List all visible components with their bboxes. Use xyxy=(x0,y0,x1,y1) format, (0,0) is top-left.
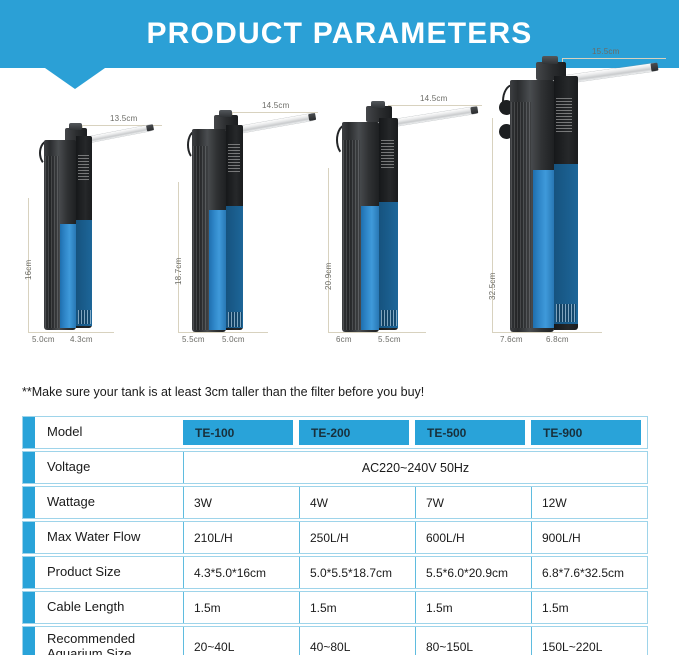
row-label-product-size: Product Size xyxy=(35,557,183,588)
row-accent-bar xyxy=(23,627,35,655)
body-label-plate-1 xyxy=(78,154,89,180)
dimension-width-2: 5.0cm xyxy=(222,335,245,344)
dimension-width-4: 6.8cm xyxy=(546,335,569,344)
row-accent-bar xyxy=(23,522,35,553)
body-blue-front-2 xyxy=(209,210,226,330)
cell-flow-4: 900L/H xyxy=(531,522,647,553)
cell-size-4: 6.8*7.6*32.5cm xyxy=(531,557,647,588)
table-row-wattage: Wattage 3W 4W 7W 12W xyxy=(22,486,648,519)
cell-aquarium-2: 40~80L xyxy=(299,627,415,655)
row-label-wattage: Wattage xyxy=(35,487,183,518)
cell-wattage-4: 12W xyxy=(531,487,647,518)
cell-aquarium-3: 80~150L xyxy=(415,627,531,655)
cell-voltage-merged: AC220~240V 50Hz xyxy=(183,452,647,483)
cell-cable-3: 1.5m xyxy=(415,592,531,623)
model-chip-te-900: TE-900 xyxy=(531,420,641,445)
intake-grill-1 xyxy=(78,310,91,324)
model-chip-te-500: TE-500 xyxy=(415,420,525,445)
guide-line-base-left-3 xyxy=(328,325,329,333)
body-ribs-3 xyxy=(343,140,360,330)
model-chip-te-100: TE-100 xyxy=(183,420,293,445)
specifications-table: Model TE-100 TE-200 TE-500 TE-900 Voltag… xyxy=(22,416,648,655)
body-label-plate-3 xyxy=(381,138,394,168)
row-accent-bar xyxy=(23,557,35,588)
cell-model-1: TE-100 xyxy=(183,417,299,448)
row-accent-bar xyxy=(23,592,35,623)
product-illustrations: 16cm 5.0cm 4.3cm 13.5cm xyxy=(0,100,679,365)
table-row-product-size: Product Size 4.3*5.0*16cm 5.0*5.5*18.7cm… xyxy=(22,556,648,589)
cell-aquarium-1: 20~40L xyxy=(183,627,299,655)
product-unit-te-900: 32.5cm 7.6cm 6.8cm 15.5cm xyxy=(480,100,675,350)
intake-grill-4 xyxy=(556,304,576,322)
dimension-width-1: 4.3cm xyxy=(70,335,93,344)
product-unit-te-500: 20.9cm 6cm 5.5cm 14.5cm xyxy=(320,100,485,350)
body-label-plate-2 xyxy=(228,144,240,172)
body-ribs-4 xyxy=(511,102,531,328)
table-row-recommended-aquarium-size: Recommended Aquarium Size 20~40L 40~80L … xyxy=(22,626,648,655)
guide-line-base-1 xyxy=(28,332,114,333)
body-ribs-2 xyxy=(193,146,208,330)
table-row-voltage: Voltage AC220~240V 50Hz xyxy=(22,451,648,484)
table-row-cable-length: Cable Length 1.5m 1.5m 1.5m 1.5m xyxy=(22,591,648,624)
body-blue-front-3 xyxy=(361,206,379,330)
row-label-line-1: Recommended xyxy=(47,631,135,646)
cell-flow-3: 600L/H xyxy=(415,522,531,553)
purchase-warning-note: **Make sure your tank is at least 3cm ta… xyxy=(22,385,424,399)
banner-notch-triangle xyxy=(45,68,105,89)
guide-line-tube-4 xyxy=(562,58,666,59)
cell-model-3: TE-500 xyxy=(415,417,531,448)
filter-body-4 xyxy=(500,72,584,332)
guide-line-base-left-2 xyxy=(178,325,179,333)
tube-end-cap-1 xyxy=(146,124,154,131)
filter-body-1 xyxy=(38,134,94,330)
intake-grill-2 xyxy=(228,312,242,327)
dimension-tube-2: 14.5cm xyxy=(262,101,289,110)
cell-model-4: TE-900 xyxy=(531,417,647,448)
cell-wattage-1: 3W xyxy=(183,487,299,518)
cell-size-1: 4.3*5.0*16cm xyxy=(183,557,299,588)
tube-end-cap-4 xyxy=(650,63,658,72)
cell-wattage-2: 4W xyxy=(299,487,415,518)
table-row-model: Model TE-100 TE-200 TE-500 TE-900 xyxy=(22,416,648,449)
dimension-height-2: 18.7cm xyxy=(174,258,183,285)
cell-size-3: 5.5*6.0*20.9cm xyxy=(415,557,531,588)
body-ribs-1 xyxy=(45,156,59,328)
row-label-cable-length: Cable Length xyxy=(35,592,183,623)
dimension-depth-1: 5.0cm xyxy=(32,335,55,344)
dimension-height-4: 32.5cm xyxy=(488,273,497,300)
cap-knob-1 xyxy=(69,123,82,130)
body-blue-front-4 xyxy=(533,170,554,328)
dimension-height-1: 16cm xyxy=(24,260,33,280)
body-blue-side-2 xyxy=(226,206,243,328)
dimension-width-3: 5.5cm xyxy=(378,335,401,344)
tube-end-cap-3 xyxy=(470,106,478,114)
row-accent-bar xyxy=(23,452,35,483)
guide-line-height-3 xyxy=(328,168,329,332)
cell-flow-2: 250L/H xyxy=(299,522,415,553)
guide-line-base-2 xyxy=(178,332,268,333)
dimension-depth-2: 5.5cm xyxy=(182,335,205,344)
row-label-max-water-flow: Max Water Flow xyxy=(35,522,183,553)
row-label-recommended-aquarium-size: Recommended Aquarium Size xyxy=(35,627,183,655)
dimension-tube-3: 14.5cm xyxy=(420,94,447,103)
filter-body-3 xyxy=(336,114,404,332)
guide-line-tube-3 xyxy=(388,105,482,106)
cell-wattage-3: 7W xyxy=(415,487,531,518)
cell-size-2: 5.0*5.5*18.7cm xyxy=(299,557,415,588)
guide-line-tube-2 xyxy=(232,112,318,113)
row-label-model: Model xyxy=(35,417,183,448)
cap-knob-4 xyxy=(542,56,558,64)
model-chip-te-200: TE-200 xyxy=(299,420,409,445)
cap-knob-3 xyxy=(371,101,385,108)
row-accent-bar xyxy=(23,417,35,448)
product-unit-te-200: 18.7cm 5.5cm 5.0cm 14.5cm xyxy=(170,100,320,350)
tube-end-cap-2 xyxy=(308,113,316,121)
cell-cable-2: 1.5m xyxy=(299,592,415,623)
row-label-line-2: Aquarium Size xyxy=(47,646,132,655)
filter-body-2 xyxy=(186,122,248,332)
product-parameters-page: PRODUCT PARAMETERS 16cm 5.0cm 4.3cm 13.5… xyxy=(0,0,679,655)
cap-knob-2 xyxy=(219,110,232,117)
dimension-depth-4: 7.6cm xyxy=(500,335,523,344)
guide-line-base-left-1 xyxy=(28,325,29,333)
guide-line-base-4 xyxy=(492,332,602,333)
cell-model-2: TE-200 xyxy=(299,417,415,448)
dimension-depth-3: 6cm xyxy=(336,335,352,344)
body-blue-side-4 xyxy=(554,164,578,324)
dimension-tube-1: 13.5cm xyxy=(110,114,137,123)
cell-flow-1: 210L/H xyxy=(183,522,299,553)
row-accent-bar xyxy=(23,487,35,518)
dimension-height-3: 20.9cm xyxy=(324,263,333,290)
guide-line-base-3 xyxy=(328,332,426,333)
cell-cable-4: 1.5m xyxy=(531,592,647,623)
product-unit-te-100: 16cm 5.0cm 4.3cm 13.5cm xyxy=(20,100,165,350)
cell-aquarium-4: 150L~220L xyxy=(531,627,647,655)
table-row-max-water-flow: Max Water Flow 210L/H 250L/H 600L/H 900L… xyxy=(22,521,648,554)
body-blue-front-1 xyxy=(60,224,76,328)
cell-cable-1: 1.5m xyxy=(183,592,299,623)
intake-grill-3 xyxy=(381,310,397,326)
body-label-plate-4 xyxy=(556,98,572,132)
dimension-tube-4: 15.5cm xyxy=(592,47,619,56)
row-label-voltage: Voltage xyxy=(35,452,183,483)
guide-line-base-left-4 xyxy=(492,325,493,333)
